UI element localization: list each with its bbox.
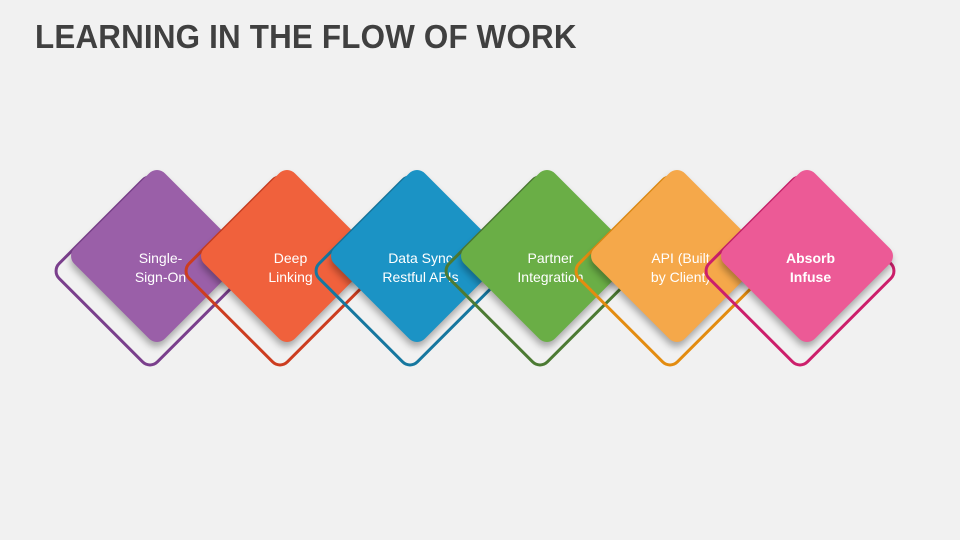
diagram-node-absorb-infuse[interactable]: Absorb Infuse (729, 192, 881, 344)
diamond-process-diagram: Single- Sign-On Deep Linking Data Sync R… (0, 0, 960, 540)
slide-canvas: LEARNING IN THE FLOW OF WORK Single- Sig… (0, 0, 960, 540)
diamond-fill-shape (716, 165, 897, 346)
